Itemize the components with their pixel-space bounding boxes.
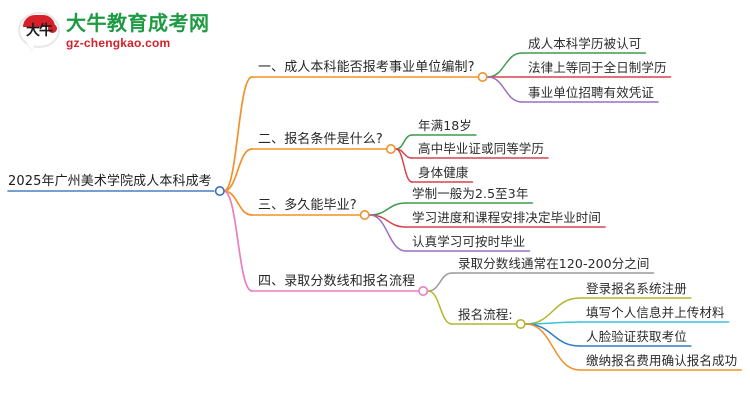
connector-branch-2-child-1 [396, 135, 412, 149]
mindmap-branch-3-child-2[interactable]: 学习进度和课程安排决定毕业时间 [412, 210, 601, 226]
branch-4-node-dot[interactable] [419, 287, 427, 295]
mindmap-branch-4-child-2[interactable]: 报名流程: [458, 307, 513, 323]
connector-branch-1-child-1 [488, 53, 522, 77]
mindmap-branch-3-child-1[interactable]: 学制一般为2.5至3年 [412, 186, 528, 202]
mindmap-process-step-2[interactable]: 填写个人信息并上传材料 [586, 305, 725, 321]
connector-branch-3-child-1 [370, 203, 406, 215]
mindmap-branch-1-child-2[interactable]: 法律上等同于全日制学历 [528, 60, 667, 76]
branch-3-node-dot[interactable] [361, 211, 369, 219]
connector-process-step-1 [526, 298, 580, 324]
process-node-dot[interactable] [517, 320, 525, 328]
mindmap-root-node[interactable]: 2025年广州美术学院成人本科成考 [8, 174, 212, 190]
mindmap-process-step-4[interactable]: 缴纳报名费用确认报名成功 [586, 353, 737, 369]
mindmap-screenshot: 大牛 大牛教育成考网 gz-chengkao.com 2025年广州美术学院成人… [0, 0, 750, 410]
mindmap-branch-2-child-2[interactable]: 高中毕业证或同等学历 [418, 141, 544, 157]
mindmap-branch-1-child-1[interactable]: 成人本科学历被认可 [528, 36, 641, 52]
connector-process-step-4 [526, 324, 580, 370]
connector-process-step-3 [526, 324, 580, 346]
connector-root-to-branch-1 [224, 77, 252, 191]
mindmap-branch-2-child-3[interactable]: 身体健康 [418, 165, 468, 181]
connector-branch-4-child-1 [428, 273, 452, 291]
mindmap-branch-2[interactable]: 二、报名条件是什么? [258, 132, 383, 148]
mindmap-branch-1[interactable]: 一、成人本科能否报考事业单位编制? [258, 60, 475, 76]
mindmap-process-step-1[interactable]: 登录报名系统注册 [586, 281, 687, 297]
connector-root-to-branch-2 [224, 149, 252, 191]
branch-1-node-dot[interactable] [478, 73, 486, 81]
mindmap-branch-4-child-1[interactable]: 录取分数线通常在120-200分之间 [458, 256, 650, 272]
mindmap-branch-1-child-3[interactable]: 事业单位招聘有效凭证 [528, 85, 654, 101]
branch-2-node-dot[interactable] [387, 145, 395, 153]
root-node-dot[interactable] [216, 187, 224, 195]
connector-branch-4-child-2 [428, 291, 452, 324]
mindmap-branch-4[interactable]: 四、录取分数线和报名流程 [258, 274, 415, 290]
connector-branch-1-child-3 [488, 77, 522, 102]
connector-root-to-branch-4 [224, 191, 252, 291]
mindmap-branch-3[interactable]: 三、多久能毕业? [258, 198, 357, 214]
mindmap-branch-2-child-1[interactable]: 年满18岁 [418, 118, 472, 134]
mindmap-process-step-3[interactable]: 人脸验证获取考位 [586, 329, 687, 345]
mindmap-branch-3-child-3[interactable]: 认真学习可按时毕业 [412, 234, 525, 250]
